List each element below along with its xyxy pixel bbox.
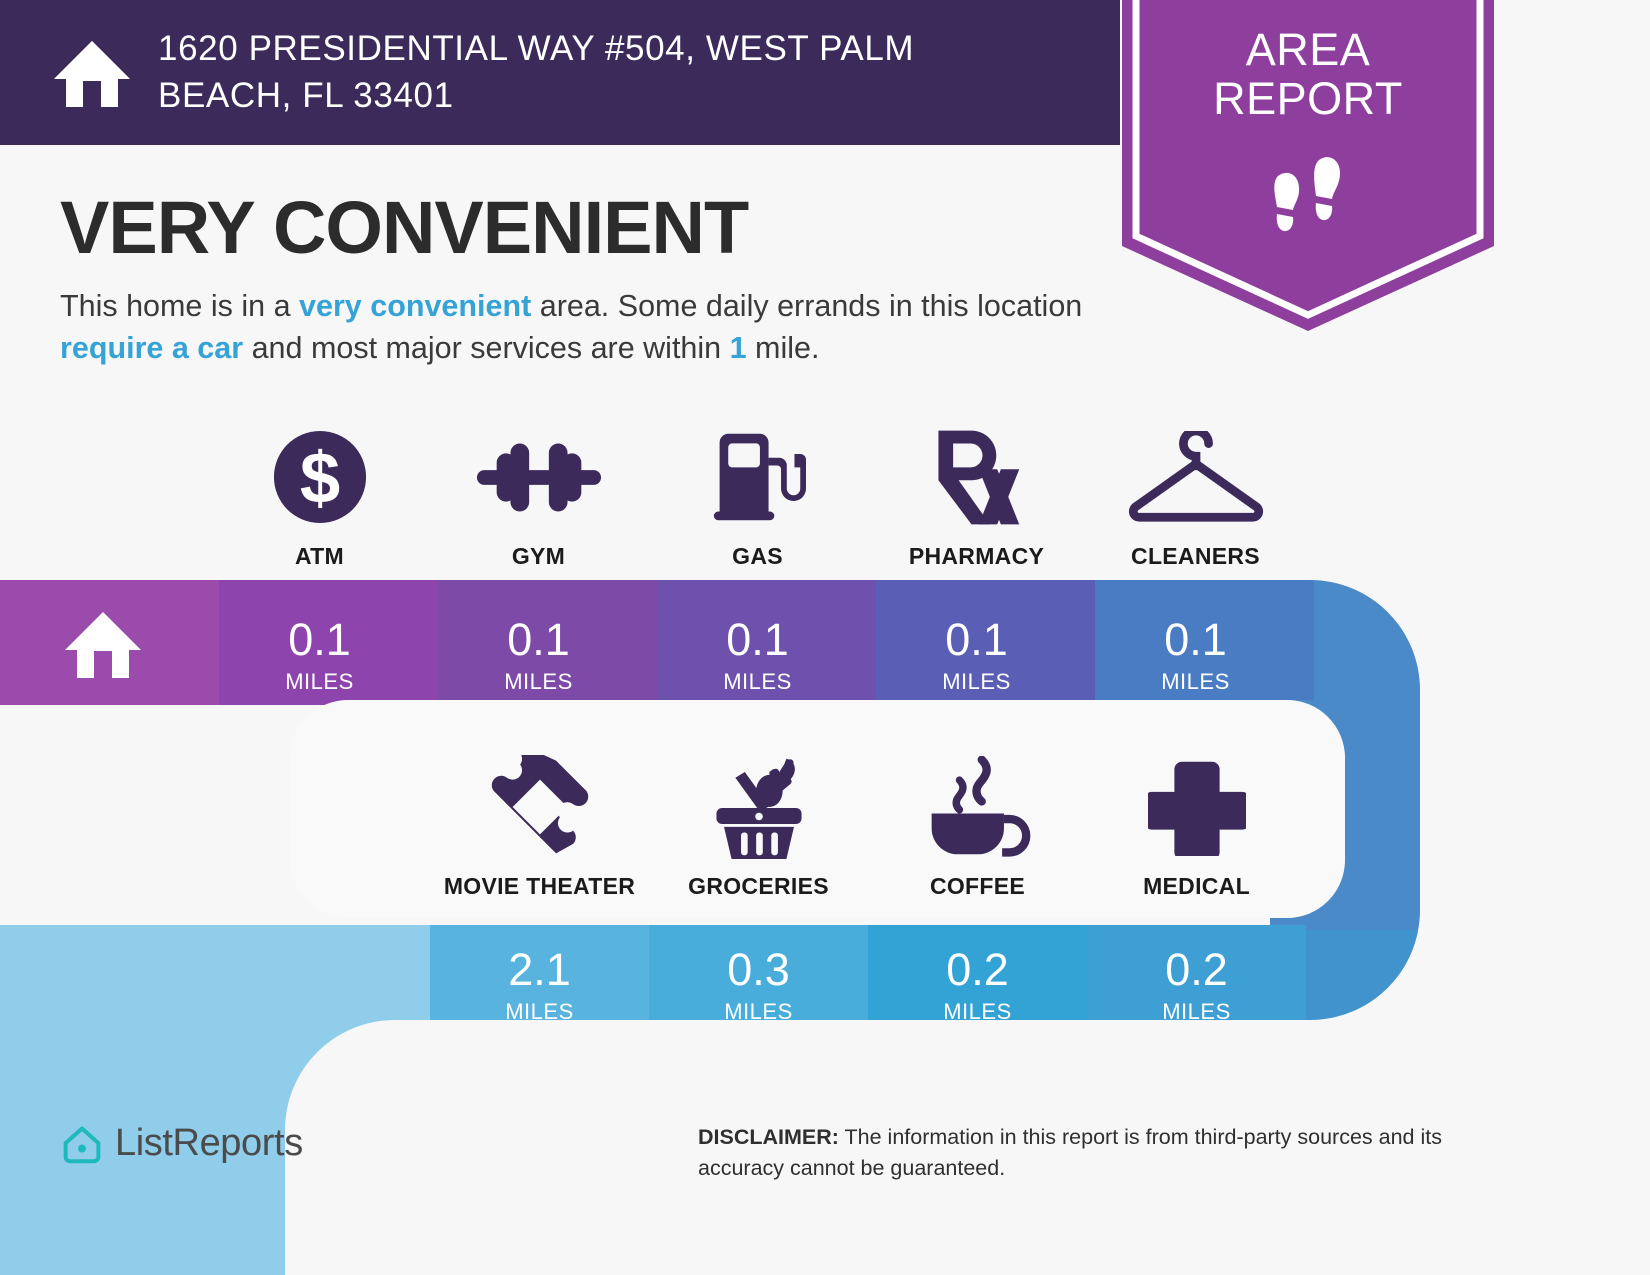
amenity-groceries[interactable]: GROCERIES xyxy=(649,755,868,900)
dumbbell-icon xyxy=(475,425,603,529)
listreports-logo[interactable]: ListReports xyxy=(62,1122,303,1165)
amenity-label: ATM xyxy=(295,543,344,570)
header-bar: 1620 PRESIDENTIAL WAY #504, WEST PALM BE… xyxy=(0,0,1120,145)
summary-text: This home is in a very convenient area. … xyxy=(60,285,1105,370)
medical-cross-icon xyxy=(1148,755,1246,859)
summary-highlight-1: very convenient xyxy=(299,289,531,323)
area-report-badge: AREA REPORT xyxy=(1122,0,1494,331)
property-address: 1620 PRESIDENTIAL WAY #504, WEST PALM BE… xyxy=(158,26,1058,118)
amenity-label: GROCERIES xyxy=(688,873,829,900)
amenity-pharmacy[interactable]: PHARMACY xyxy=(867,425,1086,570)
amenity-gym[interactable]: GYM xyxy=(429,425,648,570)
amenity-medical[interactable]: MEDICAL xyxy=(1087,755,1306,900)
amenity-label: COFFEE xyxy=(930,873,1025,900)
amenity-coffee[interactable]: COFFEE xyxy=(868,755,1087,900)
amenity-label: MOVIE THEATER xyxy=(444,873,635,900)
gas-pump-icon xyxy=(710,425,806,529)
rx-icon xyxy=(931,425,1023,529)
amenity-label: MEDICAL xyxy=(1143,873,1250,900)
disclaimer-label: DISCLAIMER: xyxy=(698,1125,839,1149)
svg-text:$: $ xyxy=(299,437,339,518)
summary-highlight-3: 1 xyxy=(730,331,747,365)
grocery-basket-icon xyxy=(707,755,811,859)
hanger-icon xyxy=(1128,425,1264,529)
amenity-icon-row-2: MOVIE THEATER GROCERIES xyxy=(430,755,1306,900)
house-icon xyxy=(63,608,143,680)
amenity-icon-row-1: $ ATM GYM GAS xyxy=(210,425,1305,570)
badge-line-2: REPORT xyxy=(1122,75,1494,124)
listreports-house-icon xyxy=(62,1124,102,1164)
amenity-atm[interactable]: $ ATM xyxy=(210,425,429,570)
amenity-cleaners[interactable]: CLEANERS xyxy=(1086,425,1305,570)
summary-highlight-2: require a car xyxy=(60,331,243,365)
summary-part-2: area. Some daily errands in this locatio… xyxy=(531,289,1082,323)
badge-title: AREA REPORT xyxy=(1122,26,1494,123)
ribbon-row1-segments xyxy=(0,575,1650,705)
summary-part-4: mile. xyxy=(747,331,820,365)
amenity-label: GYM xyxy=(512,543,565,570)
dollar-circle-icon: $ xyxy=(271,425,369,529)
amenity-label: GAS xyxy=(732,543,783,570)
amenity-movie-theater[interactable]: MOVIE THEATER xyxy=(430,755,649,900)
amenity-label: PHARMACY xyxy=(909,543,1044,570)
summary-part-3: and most major services are within xyxy=(243,331,729,365)
ticket-icon xyxy=(488,755,592,859)
summary-part-1: This home is in a xyxy=(60,289,299,323)
house-icon xyxy=(52,37,132,109)
coffee-cup-icon xyxy=(924,755,1032,859)
page-title: VERY CONVENIENT xyxy=(60,185,748,270)
ribbon-row2-segments xyxy=(0,925,1306,1045)
amenity-label: CLEANERS xyxy=(1131,543,1260,570)
listreports-wordmark: ListReports xyxy=(115,1122,303,1165)
footprints-icon xyxy=(1266,154,1350,234)
badge-line-1: AREA xyxy=(1122,26,1494,75)
amenity-gas[interactable]: GAS xyxy=(648,425,867,570)
disclaimer: DISCLAIMER: The information in this repo… xyxy=(698,1122,1510,1183)
